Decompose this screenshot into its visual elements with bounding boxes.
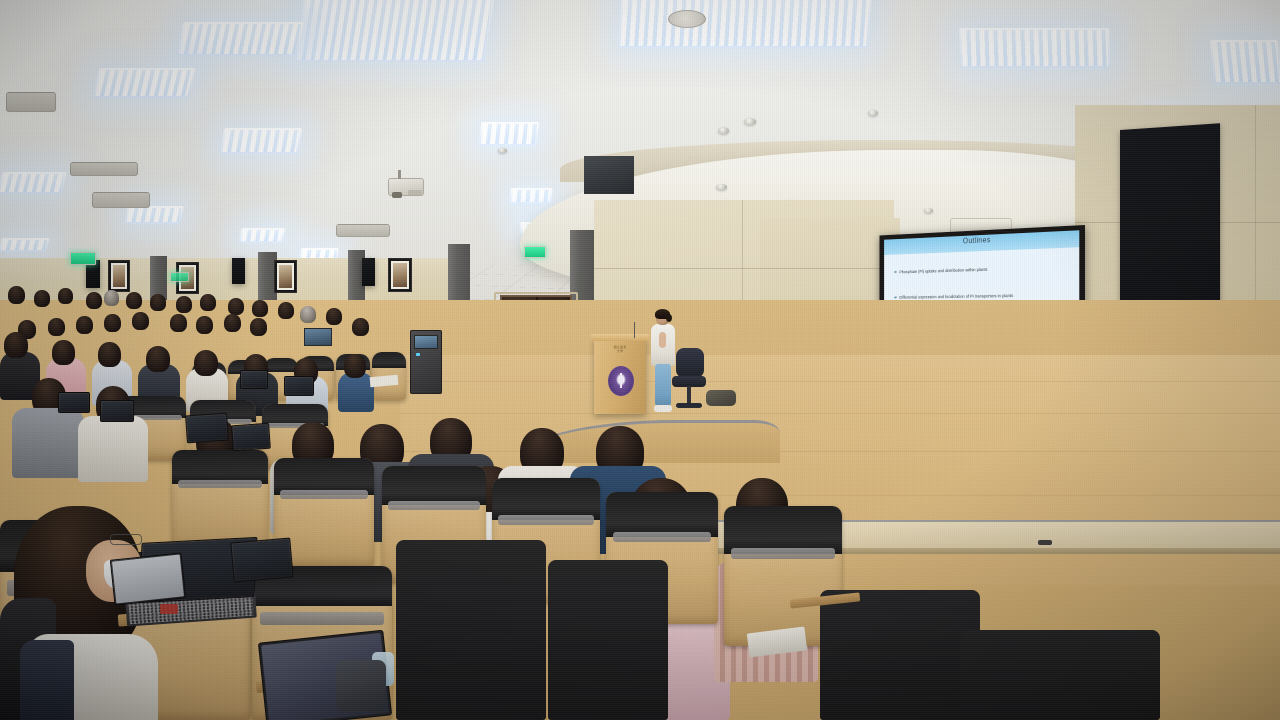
podium-microphone (634, 322, 635, 338)
audience-head (126, 292, 142, 309)
ceiling-light-panel (239, 228, 286, 243)
floor-bag (706, 390, 736, 406)
ceiling-light-panel (618, 0, 872, 48)
ceiling-downlight (868, 110, 878, 116)
ceiling-light-panel (479, 122, 540, 146)
ceiling-downlight (744, 118, 756, 125)
audience-head (170, 314, 187, 332)
laptop-display (286, 378, 312, 394)
podium-inscription-line2: 大學 (617, 349, 623, 353)
audience-head (196, 316, 213, 334)
ceiling-air-vent (70, 162, 138, 176)
lectern-podium: 國立臺灣 大學 (594, 338, 646, 414)
slide-bullet-text: Phosphate (Pi) uptake and distribution w… (899, 267, 987, 275)
exit-sign (524, 246, 546, 258)
lecture-hall-photo: Outlines ➜ Phosphate (Pi) uptake and dis… (0, 0, 1280, 720)
audience-head (300, 306, 316, 323)
framed-portrait (108, 260, 130, 292)
audience-head (326, 308, 342, 325)
auditorium-seat-back (548, 560, 668, 720)
ceiling-light-panel (124, 206, 184, 224)
wall-dark-panel (232, 258, 245, 284)
presenter-hair-bun (666, 314, 672, 322)
audience-head (58, 288, 73, 304)
laptop-screen-lid (185, 413, 229, 444)
podium-inscription: 國立臺灣 大學 (600, 346, 640, 354)
audience-head (228, 298, 244, 315)
floor-marker (1038, 540, 1052, 545)
ceiling-air-vent (336, 224, 390, 237)
laptop-screen-lid (100, 400, 134, 422)
laptop-screen-lid (110, 552, 186, 605)
audience-head (352, 318, 369, 336)
audience-head (48, 318, 65, 336)
foreground-student-strap (20, 640, 74, 720)
audience-torso (12, 408, 84, 478)
audience-head (176, 296, 192, 313)
chair-base (676, 403, 702, 408)
laptop-screen-lid (284, 376, 314, 396)
laptop-screen-lid (58, 392, 90, 413)
ceiling-light-panel (93, 68, 196, 98)
laptop-display (60, 394, 88, 411)
eyeglasses-icon (110, 534, 142, 545)
auditorium-seat-back (396, 540, 546, 720)
laptop-display (112, 555, 184, 604)
ceiling-air-vent (6, 92, 56, 112)
audience-head (150, 294, 166, 311)
audience-head (34, 290, 50, 307)
laptop-display (233, 425, 268, 449)
laptop-display (233, 540, 292, 581)
soffit-downlight (716, 184, 727, 190)
auditorium-seat-back (820, 590, 980, 720)
exit-sign (70, 252, 96, 265)
presenter-arm (659, 332, 666, 348)
ceiling-light-panel (294, 0, 496, 62)
rack-monitor (414, 335, 438, 349)
laptop-screen-lid (240, 370, 268, 389)
slide-bullet-1: ➜ Phosphate (Pi) uptake and distribution… (893, 264, 1071, 275)
audience-head (4, 332, 28, 358)
presenter-trousers (655, 364, 671, 406)
chair-backrest (676, 348, 704, 378)
slide-bullet-text: Differential expression and localization… (899, 293, 1013, 300)
audience-head (8, 286, 25, 304)
audience-head (278, 302, 294, 319)
ceiling-light-panel (1210, 40, 1280, 84)
ceiling-light-panel (176, 22, 303, 56)
projector-body (408, 190, 422, 195)
podium-top-surface (591, 334, 649, 341)
wall-dark-panel (362, 258, 375, 286)
university-emblem (608, 366, 634, 396)
audience-head (194, 350, 218, 376)
laptop-screen-lid (230, 537, 293, 582)
rear-monitor (304, 328, 332, 346)
framed-portrait (388, 258, 412, 292)
ceiling-downlight (498, 148, 507, 153)
audience-head (52, 340, 75, 365)
rack-indicator-led (416, 353, 420, 356)
ceiling-light-panel (0, 238, 50, 252)
ceiling-light-panel (220, 128, 303, 154)
ceiling-light-panel (959, 28, 1110, 68)
audience-head (132, 312, 149, 330)
av-equipment-rack (410, 330, 442, 394)
soffit-downlight (924, 208, 933, 213)
auditorium-seat (172, 450, 268, 550)
audience-head (98, 342, 121, 367)
ceiling-light-panel (509, 188, 552, 204)
audience-head (146, 346, 170, 372)
audience-head (200, 294, 216, 311)
audience-head (224, 314, 241, 332)
audience-torso (78, 416, 148, 482)
auditorium-seat-back (960, 630, 1160, 720)
audience-torso (338, 372, 374, 412)
exit-sign (170, 272, 189, 282)
framed-portrait (274, 260, 297, 293)
projector-mount (398, 170, 401, 179)
laptop-display (242, 372, 266, 387)
audience-head (104, 290, 119, 306)
audience-head (104, 314, 121, 332)
laptop-display (102, 402, 132, 420)
ceiling-speaker-grille-icon (668, 10, 706, 28)
ceiling-air-vent (92, 192, 150, 208)
laptop-display (187, 415, 227, 442)
office-chair (672, 348, 706, 410)
soffit-dark-panel (584, 156, 634, 194)
backpack (336, 660, 386, 712)
audience-head (252, 300, 268, 317)
chair-post (687, 386, 691, 404)
bullet-marker-icon: ➜ (893, 270, 897, 276)
audience-head (250, 318, 267, 336)
audience-head (76, 316, 93, 334)
ceiling-downlight (718, 127, 729, 134)
audience-head (86, 292, 102, 309)
wall-seam (594, 268, 894, 269)
laptop-screen-lid (231, 423, 271, 452)
projector-lens-icon (392, 192, 402, 198)
laptop-logo-icon (160, 604, 178, 614)
ceiling-light-panel (0, 172, 67, 194)
presenter-shoes (654, 405, 672, 412)
audience-head (344, 354, 366, 378)
